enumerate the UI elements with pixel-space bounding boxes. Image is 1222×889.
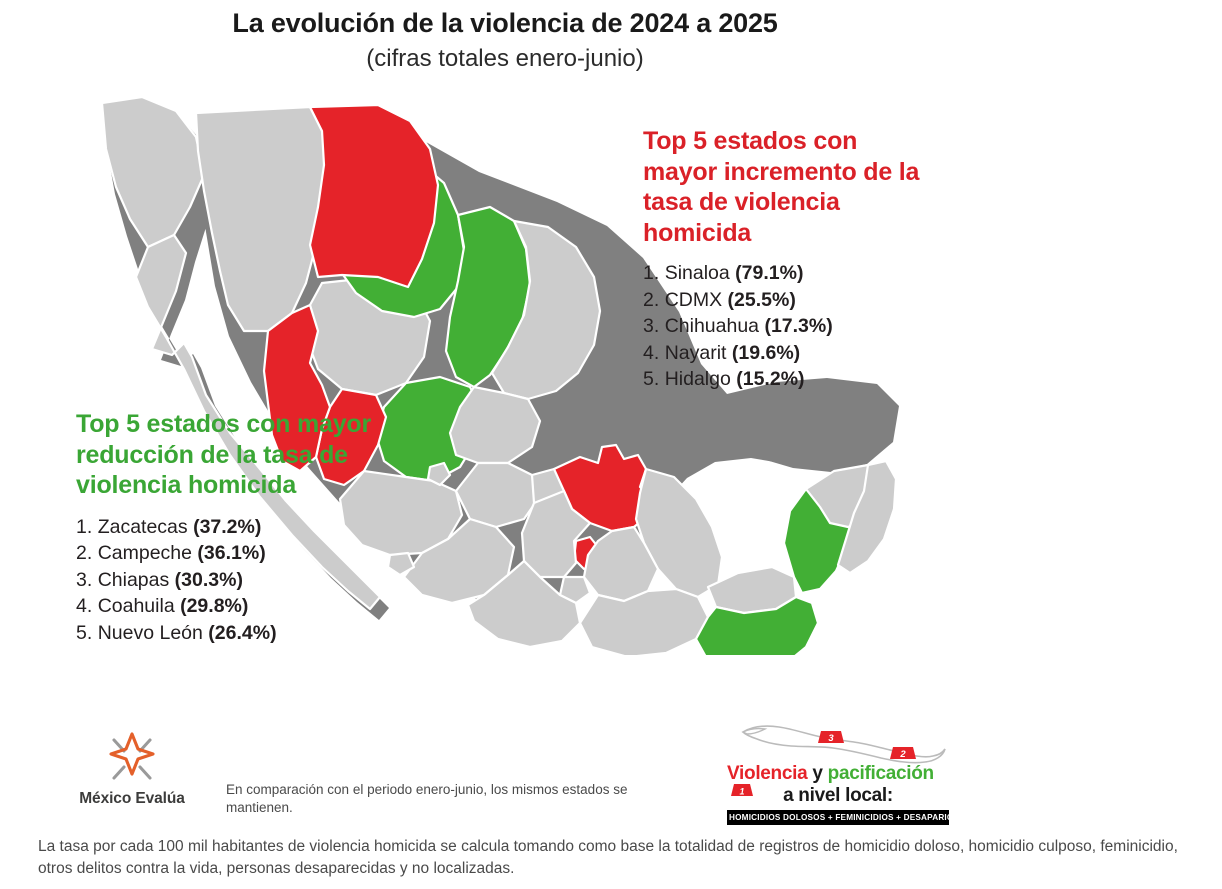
list-item: 3. Chihuahua (17.3%): [643, 313, 923, 340]
list-item: 2. Campeche (36.1%): [76, 540, 376, 567]
state-name: Hidalgo: [665, 368, 731, 390]
list-item: 1. Zacatecas (37.2%): [76, 514, 376, 541]
state-pct: (79.1%): [735, 262, 803, 284]
rank: 2.: [643, 289, 659, 311]
state-pct: (37.2%): [193, 516, 261, 538]
list-item: 1. Sinaloa (79.1%): [643, 260, 923, 287]
rank: 4.: [643, 342, 659, 364]
svg-text:1: 1: [739, 787, 744, 797]
state-name: CDMX: [665, 289, 722, 311]
rank: 1.: [643, 262, 659, 284]
state-pct: (15.2%): [736, 368, 804, 390]
rank: 5.: [643, 368, 659, 390]
state-pct: (36.1%): [197, 542, 265, 564]
list-item: 5. Nuevo León (26.4%): [76, 620, 376, 647]
badge-word-violencia: Violencia: [727, 763, 807, 784]
list-item: 5. Hidalgo (15.2%): [643, 366, 923, 393]
state-name: Chiapas: [98, 569, 170, 591]
badge-line1: Violencia y pacificación: [727, 764, 949, 784]
svg-text:2: 2: [899, 749, 906, 760]
badge-word-y: y: [812, 763, 822, 784]
rank: 4.: [76, 595, 92, 617]
logo-label: México Evalúa: [62, 790, 202, 808]
state-name: Nayarit: [665, 342, 727, 364]
increase-legend-panel: Top 5 estados con mayor incremento de la…: [643, 126, 923, 393]
page-subtitle: (cifras totales enero-junio): [0, 45, 1010, 73]
state-pct: (26.4%): [208, 622, 276, 644]
state-name: Chihuahua: [665, 315, 759, 337]
state-oaxaca: [580, 589, 708, 655]
badge-pin-2: 2: [890, 747, 916, 760]
state-name: Nuevo León: [98, 622, 203, 644]
rank: 3.: [76, 569, 92, 591]
state-name: Coahuila: [98, 595, 175, 617]
methodology-caption: La tasa por cada 100 mil habitantes de v…: [38, 836, 1190, 881]
state-pct: (17.3%): [764, 315, 832, 337]
list-item: 4. Nayarit (19.6%): [643, 340, 923, 367]
rank: 1.: [76, 516, 92, 538]
state-pct: (29.8%): [180, 595, 248, 617]
list-item: 3. Chiapas (30.3%): [76, 567, 376, 594]
violencia-pacificacion-badge: 3 2 Violencia y pacificación 1 a nivel l…: [727, 718, 949, 825]
list-item: 4. Coahuila (29.8%): [76, 593, 376, 620]
state-name: Sinaloa: [665, 262, 730, 284]
comparison-footnote: En comparación con el periodo enero-juni…: [226, 781, 696, 816]
reduction-legend-list: 1. Zacatecas (37.2%) 2. Campeche (36.1%)…: [76, 514, 376, 647]
reduction-legend-heading: Top 5 estados con mayor reducción de la …: [76, 409, 376, 501]
badge-title-row: Violencia y pacificación 1 a nivel local…: [727, 764, 949, 806]
page-title: La evolución de la violencia de 2024 a 2…: [0, 8, 1010, 39]
state-chihuahua: [310, 105, 438, 287]
badge-word-pacificacion: pacificación: [828, 763, 934, 784]
state-pct: (30.3%): [175, 569, 243, 591]
badge-pin-3: 3: [818, 731, 844, 744]
state-name: Campeche: [98, 542, 192, 564]
rank: 5.: [76, 622, 92, 644]
svg-text:3: 3: [828, 733, 834, 744]
star-icon: [97, 730, 167, 788]
infographic-canvas: La evolución de la violencia de 2024 a 2…: [0, 0, 1222, 889]
state-pct: (25.5%): [728, 289, 796, 311]
reduction-legend-panel: Top 5 estados con mayor reducción de la …: [76, 409, 376, 646]
list-item: 2. CDMX (25.5%): [643, 287, 923, 314]
badge-subtitle-bar: HOMICIDIOS DOLOSOS + FEMINICIDIOS + DESA…: [727, 810, 949, 825]
increase-legend-heading: Top 5 estados con mayor incremento de la…: [643, 126, 923, 248]
mexico-evalua-logo: México Evalúa: [62, 730, 202, 808]
rank: 2.: [76, 542, 92, 564]
badge-line2: a nivel local:: [727, 786, 949, 806]
state-pct: (19.6%): [732, 342, 800, 364]
state-name: Zacatecas: [98, 516, 188, 538]
badge-pin-1: 1: [729, 782, 757, 799]
increase-legend-list: 1. Sinaloa (79.1%) 2. CDMX (25.5%) 3. Ch…: [643, 260, 923, 393]
rank: 3.: [643, 315, 659, 337]
title-block: La evolución de la violencia de 2024 a 2…: [0, 8, 1010, 73]
